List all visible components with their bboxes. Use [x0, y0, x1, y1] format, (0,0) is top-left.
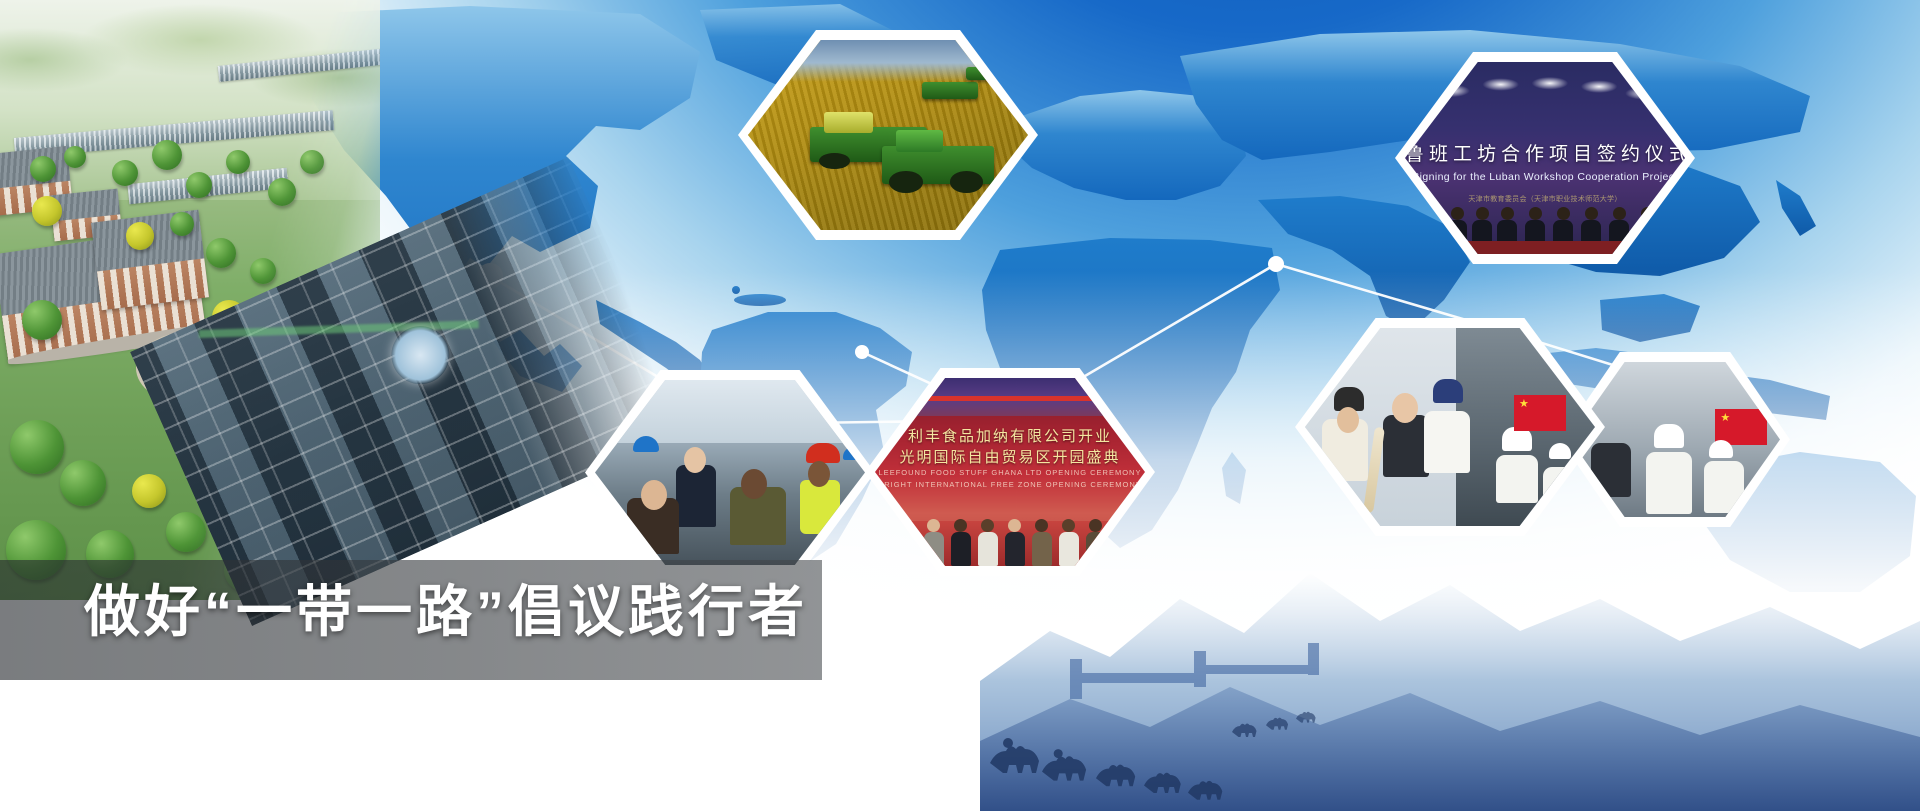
tree [126, 222, 154, 250]
leefound-ceremony-image: 利丰食品加纳有限公司开业 光明国际自由贸易区开园盛典 LEEFOUND FOOD… [875, 378, 1145, 566]
wheat-harvest-image [748, 40, 1028, 230]
noodle-chef-image [1305, 328, 1595, 526]
tree [166, 512, 206, 552]
kitchen-image [1570, 362, 1780, 517]
chef-uniform [1591, 443, 1631, 497]
tree [22, 300, 62, 340]
tree [152, 140, 182, 170]
harvester-wheel [950, 171, 984, 192]
tree [170, 212, 194, 236]
red-hard-hat [806, 443, 840, 463]
luban-banner-cn: 鲁班工坊合作项目签约仪式 [1405, 139, 1685, 166]
person [1005, 519, 1025, 566]
tree [60, 460, 106, 506]
combine-harvester [922, 82, 978, 99]
safety-vest [800, 480, 840, 534]
chef-hat [1549, 443, 1571, 459]
delegate-face [741, 469, 767, 499]
chef-hat [1654, 424, 1684, 448]
chef-uniform [1704, 461, 1744, 513]
tree [268, 178, 296, 206]
chef-uniform [1646, 452, 1692, 514]
tree [206, 238, 236, 268]
tree [250, 258, 276, 284]
leefound-banner-en-line2: BRIGHT INTERNATIONAL FREE ZONE OPENING C… [875, 480, 1145, 489]
tree [186, 172, 212, 198]
harvester-cab [896, 130, 943, 153]
tree [32, 196, 62, 226]
chef-uniform [1424, 411, 1470, 473]
tree [226, 150, 250, 174]
china-flag [1514, 395, 1566, 431]
chef-hat [1709, 440, 1733, 458]
china-flag [1715, 409, 1767, 445]
person [978, 519, 998, 566]
person [1032, 519, 1052, 566]
leefound-banner-cn-line2: 光明国际自由贸易区开园盛典 [875, 446, 1145, 467]
banner-title: 做好“一带一路”倡议践行者 [84, 584, 808, 640]
leefound-banner-cn-line1: 利丰食品加纳有限公司开业 [875, 425, 1145, 446]
delegate-face [641, 480, 667, 510]
tree [132, 474, 166, 508]
person [951, 519, 971, 566]
harvester-wheel [819, 153, 850, 169]
delegate-suit [676, 465, 716, 527]
tree [10, 420, 64, 474]
person [1059, 519, 1079, 566]
tree [30, 156, 56, 182]
combine-harvester [882, 146, 994, 184]
leefound-banner-en-line1: LEEFOUND FOOD STUFF GHANA LTD OPENING CE… [875, 468, 1145, 477]
route-node [1268, 256, 1284, 272]
chef-uniform [1496, 455, 1538, 503]
harvester-wheel [889, 171, 923, 192]
chef-hat [1433, 379, 1463, 403]
chef-uniform [1383, 415, 1429, 477]
tree [112, 160, 138, 186]
tree [64, 146, 86, 168]
tree [300, 150, 324, 174]
signing-table [1455, 241, 1634, 254]
ghana-site-image [595, 380, 865, 565]
stage-lights [1422, 74, 1668, 116]
map-japan [1776, 180, 1816, 236]
luban-signing-image: 鲁班工坊合作项目签约仪式 Signing for the Luban Works… [1405, 62, 1685, 254]
banner-root: 鲁班工坊合作项目签约仪式 Signing for the Luban Works… [0, 0, 1920, 811]
harvester-cab [824, 112, 873, 133]
chef-face [1337, 407, 1359, 433]
delegate-face [684, 447, 706, 473]
